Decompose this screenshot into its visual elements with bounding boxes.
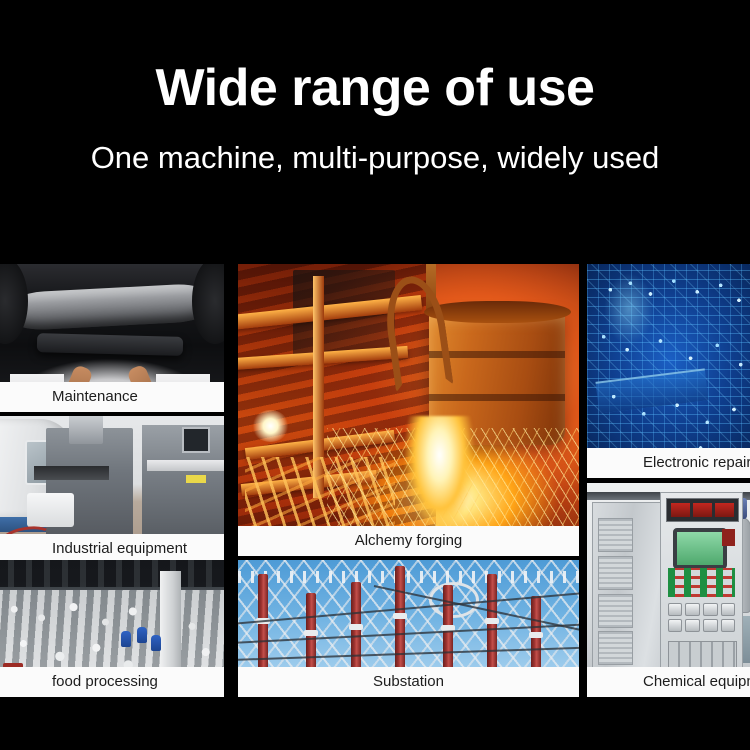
blue-uniform-worker bbox=[121, 631, 131, 647]
indicator-block bbox=[722, 529, 735, 546]
push-button bbox=[685, 603, 700, 616]
cnc-spindle-head bbox=[69, 416, 104, 444]
tile-caption-maintenance: Maintenance bbox=[0, 382, 224, 412]
gallery-tile-maintenance[interactable]: Maintenance bbox=[0, 264, 224, 412]
meter-segment bbox=[693, 503, 711, 517]
cnc-machine-center bbox=[46, 428, 133, 540]
push-button bbox=[668, 603, 683, 616]
work-lamp bbox=[252, 410, 290, 442]
push-button bbox=[685, 619, 700, 632]
promo-banner-page: Wide range of use One machine, multi-pur… bbox=[0, 0, 750, 750]
cabinet-vent bbox=[598, 631, 633, 665]
tile-caption-substation: Substation bbox=[238, 667, 579, 697]
overhead-gantry bbox=[238, 571, 579, 583]
control-panel bbox=[660, 492, 742, 678]
gallery-tile-substation[interactable]: Substation bbox=[238, 560, 579, 697]
meter-segment bbox=[671, 503, 689, 517]
gallery-tile-chemical-equipment[interactable]: Chemical equipment bbox=[587, 483, 750, 697]
cnc-cabinet bbox=[27, 493, 74, 527]
tile-caption-chemical-equipment: Chemical equipment bbox=[587, 667, 750, 697]
blue-circuit-board-photo bbox=[587, 264, 750, 478]
gallery-tile-alchemy-forging[interactable]: Alchemy forging bbox=[238, 264, 579, 556]
meter-segment bbox=[715, 503, 733, 517]
cnc-screen bbox=[182, 427, 210, 453]
pcb-highlight-glow bbox=[604, 273, 654, 346]
cabinet-vent bbox=[598, 556, 633, 590]
digital-meter-display bbox=[666, 498, 739, 522]
push-button bbox=[721, 603, 736, 616]
banner-header: Wide range of use One machine, multi-pur… bbox=[0, 0, 750, 255]
push-button bbox=[721, 619, 736, 632]
blue-uniform-worker bbox=[151, 635, 161, 651]
led-indicator-array bbox=[668, 568, 735, 597]
push-button bbox=[668, 619, 683, 632]
use-case-gallery: Maintenance bbox=[0, 255, 750, 750]
cabinet-vent bbox=[598, 594, 633, 628]
page-title: Wide range of use bbox=[0, 57, 750, 119]
blue-uniform-worker bbox=[137, 627, 147, 643]
cnc-bed bbox=[34, 466, 108, 479]
crt-monitor bbox=[673, 528, 727, 569]
cabinet-vent bbox=[598, 518, 633, 552]
tire-left-shape bbox=[0, 264, 28, 344]
tile-caption-food-processing: food processing bbox=[0, 667, 224, 697]
push-button bbox=[703, 603, 718, 616]
page-subtitle: One machine, multi-purpose, widely used bbox=[0, 138, 750, 178]
factory-pillar bbox=[160, 571, 181, 667]
gallery-tile-food-processing[interactable]: food processing bbox=[0, 560, 224, 697]
cnc-label-sticker bbox=[186, 475, 206, 483]
cnc-machine-right bbox=[142, 425, 224, 535]
gallery-tile-industrial-equipment[interactable]: Industrial equipment bbox=[0, 416, 224, 564]
tire-right-shape bbox=[192, 264, 224, 344]
push-button bbox=[703, 619, 718, 632]
molten-steel-ladle-photo bbox=[238, 264, 579, 556]
chemical-control-cabinet-photo bbox=[587, 483, 750, 697]
cnc-plate bbox=[147, 460, 224, 471]
tile-caption-electronic-repair: Electronic repair bbox=[587, 448, 750, 478]
gallery-tile-electronic-repair[interactable]: Electronic repair bbox=[587, 264, 750, 478]
ladle-band bbox=[429, 394, 565, 401]
tile-caption-alchemy-forging: Alchemy forging bbox=[238, 526, 579, 556]
factory-ceiling bbox=[0, 560, 224, 587]
push-button-grid bbox=[668, 603, 735, 632]
